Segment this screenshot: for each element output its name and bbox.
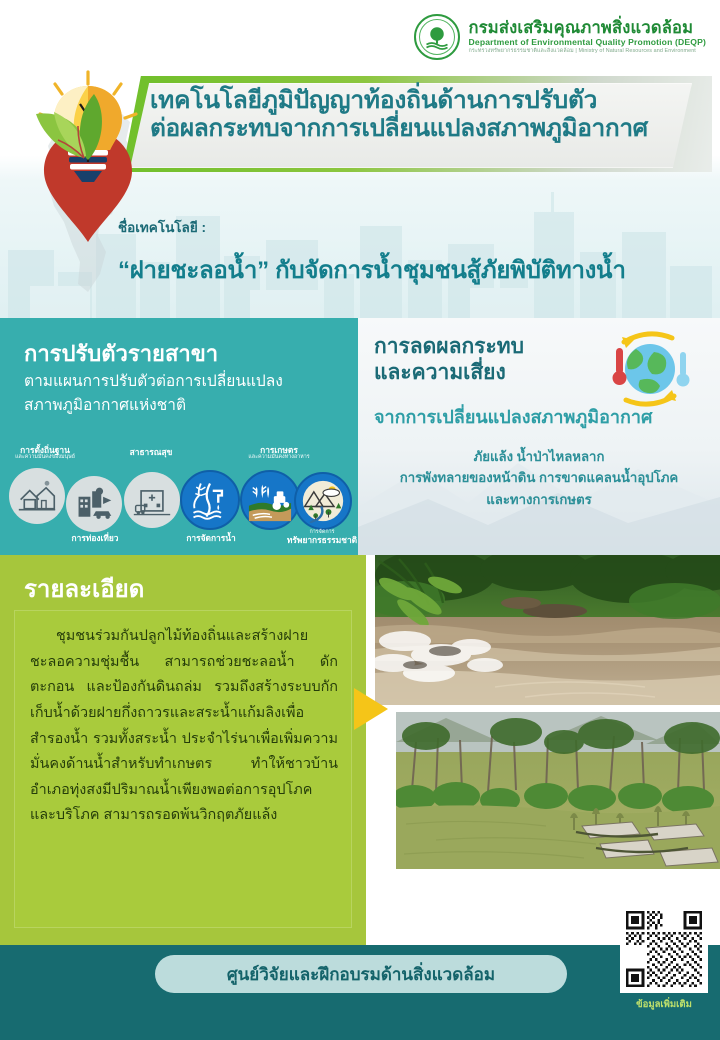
photo-band: สถานที่ : ชุมชนทุ่งสง อำเภอทุ่งสง จังหวั… xyxy=(366,555,720,945)
org-name-en: Department of Environmental Quality Prom… xyxy=(469,38,706,47)
impact-body-line1: ภัยแล้ง น้ำป่าไหลหลาก xyxy=(366,446,712,467)
impact-body-line3: และทางการเกษตร xyxy=(366,489,712,510)
adaptation-heading: การปรับตัวรายสาขา xyxy=(24,336,218,371)
adaptation-subheading: ตามแผนการปรับตัวต่อการเปลี่ยนแปลง สภาพภู… xyxy=(24,370,344,418)
impact-heading-line2: และความเสี่ยง xyxy=(374,360,524,386)
adaptation-panel: การปรับตัวรายสาขา ตามแผนการปรับตัวต่อการ… xyxy=(0,318,358,555)
impact-body: ภัยแล้ง น้ำป่าไหลหลาก การพังทลายของหน้าด… xyxy=(366,446,712,510)
impact-heading-line1: การลดผลกระทบ xyxy=(374,334,524,360)
center-name-pill[interactable]: ศูนย์วิจัยและฝึกอบรมด้านสิ่งแวดล้อม xyxy=(155,955,567,993)
poster-title-line1: เทคโนโลยีภูมิปัญญาท้องถิ่นด้านการปรับตัว xyxy=(150,87,686,115)
sector-caption-tourism: การท่องเที่ยว xyxy=(60,534,130,543)
detail-body-text: ชุมชนร่วมกันปลูกไม้ท้องถิ่นและสร้างฝายชะ… xyxy=(30,624,338,829)
settlement-houses-icon[interactable] xyxy=(9,468,65,524)
reservoir-pond-photo xyxy=(396,712,720,869)
impact-panel: การลดผลกระทบ และความเสี่ยง จากการเปลี่ยน… xyxy=(358,318,720,555)
agriculture-wheat-tractor-icon[interactable] xyxy=(240,470,300,530)
qr-code-icon[interactable] xyxy=(620,905,708,993)
qr-caption: ข้อมูลเพิ่มเติม xyxy=(620,997,708,1012)
sector-caption-natural-resources: การจัดการ ทรัพยากรธรรมชาติ xyxy=(282,530,362,545)
water-management-tap-river-icon[interactable] xyxy=(180,470,240,530)
adaptation-subheading-line2: สภาพภูมิอากาศแห่งชาติ xyxy=(24,394,344,418)
detail-heading: รายละเอียด xyxy=(24,569,144,608)
sector-caption-health: สาธารณสุข xyxy=(116,448,186,457)
footer-band: ศูนย์วิจัยและฝึกอบรมด้านสิ่งแวดล้อม xyxy=(0,945,720,1040)
tech-name-value: “ฝายชะลอน้ำ” กับจัดการน้ำชุมชนสู้ภัยพิบั… xyxy=(118,250,700,289)
mid-section: การปรับตัวรายสาขา ตามแผนการปรับตัวต่อการ… xyxy=(0,318,720,555)
impact-heading: การลดผลกระทบ และความเสี่ยง xyxy=(374,334,524,387)
tourism-city-car-icon[interactable] xyxy=(66,476,122,532)
globe-thermometer-climate-icon xyxy=(596,326,704,414)
natural-resources-mountain-icon[interactable] xyxy=(294,472,352,530)
tree-water-circle-logo-icon xyxy=(414,14,460,60)
sector-icons-row: การตั้งถิ่นฐาน และความมั่นคงของมนุษย์ xyxy=(0,446,358,546)
impact-body-line2: การพังทลายของหน้าดิน การขาดแคลนน้ำอุปโภค xyxy=(366,467,712,488)
hero-section: เทคโนโลยีภูมิปัญญาท้องถิ่นด้านการปรับตัว… xyxy=(0,64,720,318)
adaptation-subheading-line1: ตามแผนการปรับตัวต่อการเปลี่ยนแปลง xyxy=(24,370,344,394)
detail-panel: รายละเอียด ชุมชนร่วมกันปลูกไม้ท้องถิ่นแล… xyxy=(0,555,366,945)
tech-name-label: ชื่อเทคโนโลยี : xyxy=(118,216,206,238)
yellow-right-arrow-icon xyxy=(352,686,392,732)
deqp-logo: กรมส่งเสริมคุณภาพสิ่งแวดล้อม Department … xyxy=(414,14,706,60)
poster-title-line2: ต่อผลกระทบจากการเปลี่ยนแปลงสภาพภูมิอากาศ xyxy=(150,115,686,143)
detail-card: ชุมชนร่วมกันปลูกไม้ท้องถิ่นและสร้างฝายชะ… xyxy=(14,610,352,928)
org-ministry: กระทรวงทรัพยากรธรรมชาติและสิ่งแวดล้อม | … xyxy=(469,49,706,55)
title-banner: เทคโนโลยีภูมิปัญญาท้องถิ่นด้านการปรับตัว… xyxy=(122,76,712,172)
sector-caption-agriculture: การเกษตร และความมั่นคงทางอาหาร xyxy=(236,446,322,461)
center-name-text: ศูนย์วิจัยและฝึกอบรมด้านสิ่งแวดล้อม xyxy=(227,961,495,988)
poster-root: กรมส่งเสริมคุณภาพสิ่งแวดล้อม Department … xyxy=(0,0,720,1040)
sector-caption-settlement: การตั้งถิ่นฐาน และความมั่นคงของมนุษย์ xyxy=(2,446,88,461)
sector-caption-water: การจัดการน้ำ xyxy=(176,534,246,543)
org-name-th: กรมส่งเสริมคุณภาพสิ่งแวดล้อม xyxy=(469,20,706,37)
public-health-hospital-icon[interactable] xyxy=(124,472,180,528)
flooded-stream-weir-photo xyxy=(375,555,720,705)
